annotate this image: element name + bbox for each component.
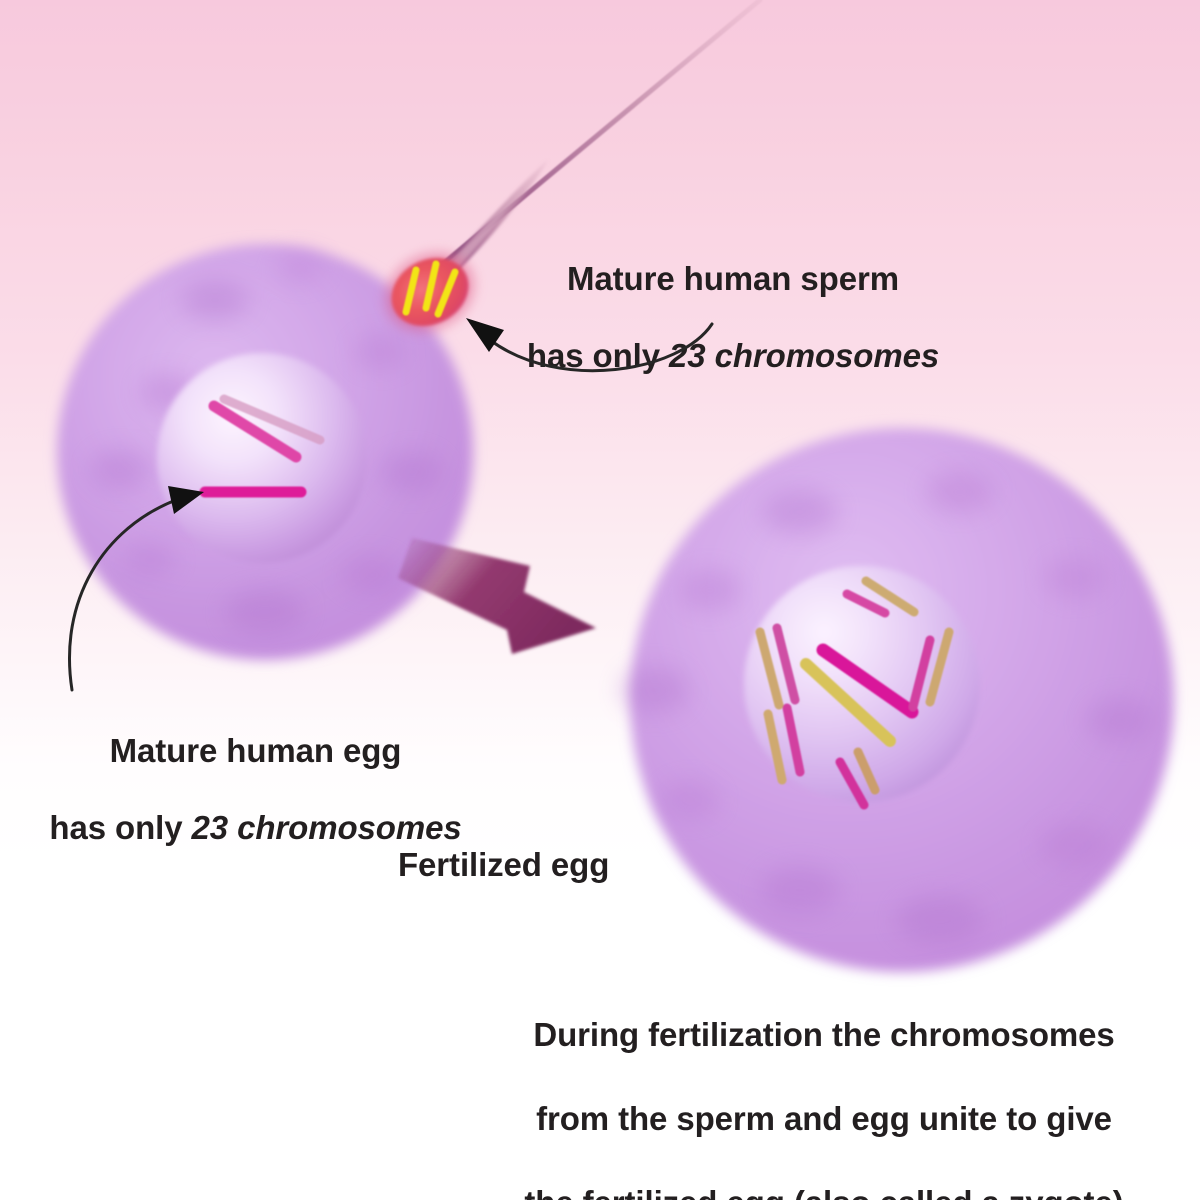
fertilization-diagram: Mature human sperm has only 23 chromosom…	[0, 0, 1200, 1200]
fertilization-arrow	[398, 538, 596, 654]
sperm-pointer	[466, 318, 712, 371]
egg-pointer	[69, 486, 204, 690]
arrows-layer	[0, 0, 1200, 1200]
